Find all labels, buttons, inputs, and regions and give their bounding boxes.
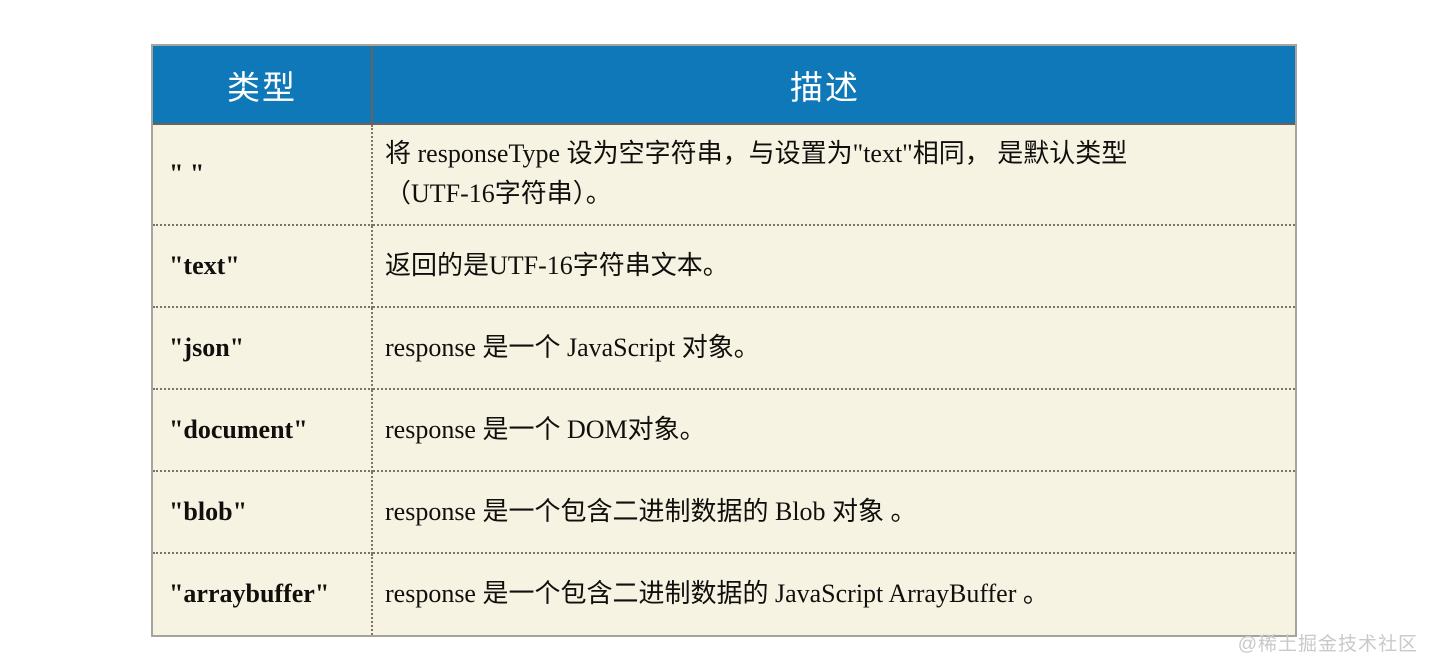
cell-description-blob: response 是一个包含二进制数据的 Blob 对象 。 <box>372 471 1295 553</box>
table-row: "arraybuffer" response 是一个包含二进制数据的 JavaS… <box>153 553 1295 635</box>
table-body: " " 将 responseType 设为空字符串，与设置为"text"相同， … <box>153 124 1295 635</box>
page-canvas: 类型 描述 " " 将 responseType 设为空字符串，与设置为"tex… <box>0 0 1432 666</box>
table-row: "document" response 是一个 DOM对象。 <box>153 389 1295 471</box>
cell-type-empty-string: " " <box>153 124 372 225</box>
table-header-row: 类型 描述 <box>153 46 1295 124</box>
table-row: " " 将 responseType 设为空字符串，与设置为"text"相同， … <box>153 124 1295 225</box>
cell-type-blob: "blob" <box>153 471 372 553</box>
cell-description-arraybuffer: response 是一个包含二进制数据的 JavaScript ArrayBuf… <box>372 553 1295 635</box>
cell-type-document: "document" <box>153 389 372 471</box>
description-line: 将 responseType 设为空字符串，与设置为"text"相同， 是默认类… <box>385 135 1273 173</box>
cell-type-arraybuffer: "arraybuffer" <box>153 553 372 635</box>
cell-description-document: response 是一个 DOM对象。 <box>372 389 1295 471</box>
watermark: @稀土掘金技术社区 <box>1238 629 1418 656</box>
cell-type-json: "json" <box>153 307 372 389</box>
table-row: "json" response 是一个 JavaScript 对象。 <box>153 307 1295 389</box>
cell-description-json: response 是一个 JavaScript 对象。 <box>372 307 1295 389</box>
response-type-table: 类型 描述 " " 将 responseType 设为空字符串，与设置为"tex… <box>153 46 1295 635</box>
cell-description-empty-string: 将 responseType 设为空字符串，与设置为"text"相同， 是默认类… <box>372 124 1295 225</box>
column-header-type: 类型 <box>153 46 372 124</box>
description-line: （UTF-16字符串）。 <box>385 175 1273 213</box>
response-type-table-container: 类型 描述 " " 将 responseType 设为空字符串，与设置为"tex… <box>151 44 1297 637</box>
table-row: "text" 返回的是UTF-16字符串文本。 <box>153 225 1295 307</box>
column-header-description: 描述 <box>372 46 1295 124</box>
cell-description-text: 返回的是UTF-16字符串文本。 <box>372 225 1295 307</box>
table-header: 类型 描述 <box>153 46 1295 124</box>
table-row: "blob" response 是一个包含二进制数据的 Blob 对象 。 <box>153 471 1295 553</box>
cell-type-text: "text" <box>153 225 372 307</box>
